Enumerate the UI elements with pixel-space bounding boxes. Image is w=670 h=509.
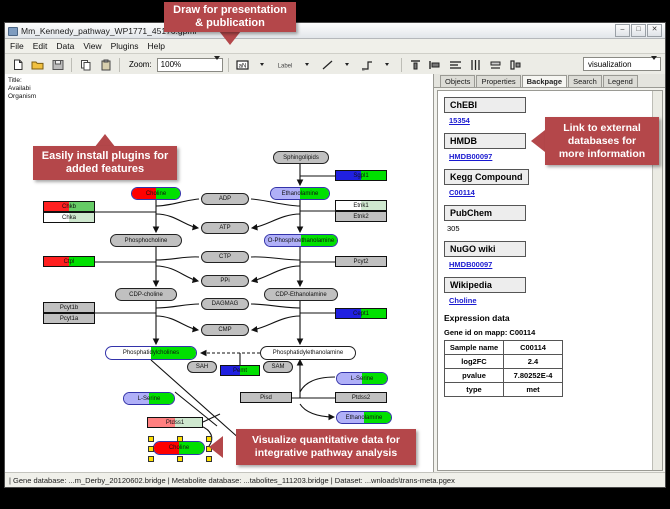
title-bar: Mm_Kennedy_pathway_WP1771_45176.gpml – □… — [5, 23, 665, 39]
node-label: Pemt — [233, 368, 247, 374]
db-header-kegg: Kegg Compound — [444, 169, 529, 185]
db-link-wikipedia[interactable]: Choline — [449, 296, 662, 305]
line-icon[interactable] — [319, 56, 336, 73]
tab-legend[interactable]: Legend — [603, 75, 638, 87]
line-dropdown-icon[interactable] — [339, 56, 356, 73]
node-label: Chkb — [62, 204, 76, 210]
visualization-value: visualization — [588, 60, 632, 69]
pathway-node-sah[interactable]: SAH — [187, 361, 217, 373]
align-top-icon[interactable] — [407, 56, 424, 73]
node-label: Ctpl — [64, 259, 75, 265]
node-label: Ptdss1 — [166, 420, 184, 426]
pathway-node-sgpl1[interactable]: Sgpl1 — [335, 170, 387, 181]
db-link-nugo[interactable]: HMDB00097 — [449, 260, 662, 269]
status-bar-text: | Gene database: ...m_Derby_20120602.bri… — [9, 476, 455, 485]
node-label: Ptdss2 — [352, 395, 370, 401]
distribute-vertical-icon[interactable] — [447, 56, 464, 73]
link-callout-text: Link to externaldatabases formore inform… — [559, 122, 645, 161]
link-callout: Link to externaldatabases formore inform… — [545, 117, 659, 165]
node-label: PPi — [220, 278, 229, 284]
pathway-node-phosphocholine[interactable]: Phosphocholine — [110, 234, 182, 247]
resize-handle[interactable] — [177, 456, 183, 462]
connector-icon[interactable] — [359, 56, 376, 73]
menu-view[interactable]: View — [82, 41, 102, 51]
pathway-node-sam[interactable]: SAM — [263, 361, 293, 373]
db-value-pubchem: 305 — [447, 224, 662, 233]
node-label: L-Serine — [138, 396, 161, 402]
menu-edit[interactable]: Edit — [32, 41, 49, 51]
exp-val-sample-name: C00114 — [504, 341, 563, 355]
visualize-callout-arrow-icon — [209, 436, 223, 458]
pathway-node-cept1[interactable]: Cept1 — [335, 308, 387, 319]
node-label: Pcyt1a — [60, 316, 78, 322]
pathway-node-chkb[interactable]: Chkb — [43, 201, 95, 212]
node-label: CDP-Ethanolamine — [275, 292, 326, 298]
paste-icon[interactable] — [97, 56, 114, 73]
node-label: Cept1 — [353, 311, 369, 317]
table-row: Sample name C00114 — [445, 341, 563, 355]
pathway-node-ppi[interactable]: PPi — [201, 275, 249, 287]
visualize-callout: Visualize quantitative data forintegrati… — [236, 429, 416, 465]
svg-text:aN: aN — [238, 63, 246, 69]
resize-handle[interactable] — [148, 446, 154, 452]
distribute-horizontal-icon[interactable] — [467, 56, 484, 73]
zoom-label: Zoom: — [129, 60, 152, 69]
exp-key-sample-name: Sample name — [445, 341, 504, 355]
node-label: L-Serine — [351, 376, 374, 382]
new-file-icon[interactable] — [9, 56, 26, 73]
app-icon — [8, 26, 17, 35]
pathway-node-pcyt2[interactable]: Pcyt2 — [335, 256, 387, 267]
table-row: log2FC 2.4 — [445, 355, 563, 369]
exp-key-pvalue: pvalue — [445, 369, 504, 383]
open-folder-icon[interactable] — [29, 56, 46, 73]
pathway-node-choline-top[interactable]: Choline — [131, 187, 181, 200]
node-label: CTP — [219, 254, 231, 260]
exp-key-type: type — [445, 383, 504, 397]
pathway-node-l-serine-left[interactable]: L-Serine — [123, 392, 175, 405]
pathway-node-ptdss2[interactable]: Ptdss2 — [335, 392, 387, 403]
datanode-icon[interactable]: aN — [234, 56, 251, 73]
pathway-node-ctp[interactable]: CTP — [201, 251, 249, 263]
application-window: Mm_Kennedy_pathway_WP1771_45176.gpml – □… — [4, 22, 666, 488]
resize-handle[interactable] — [148, 436, 154, 442]
pathway-node-phosphatidylethanolamine[interactable]: Phosphatidylethanolamine — [260, 346, 356, 360]
link-callout-arrow-icon — [531, 130, 545, 152]
visualize-callout-text: Visualize quantitative data forintegrati… — [252, 434, 400, 460]
node-label: CMP — [218, 327, 231, 333]
expression-gene-id: Gene id on mapp: C00114 — [444, 328, 662, 337]
node-label: Pisd — [260, 395, 272, 401]
pathway-canvas[interactable]: Title: Availabi Organism — [5, 74, 434, 473]
stack-icon[interactable] — [487, 56, 504, 73]
visualization-combobox[interactable]: visualization — [583, 57, 661, 71]
save-icon[interactable] — [49, 56, 66, 73]
node-label: ATP — [219, 225, 230, 231]
pathway-node-pcyt1b[interactable]: Pcyt1b — [43, 302, 95, 313]
pathway-node-l-serine-right[interactable]: L-Serine — [336, 372, 388, 385]
pathway-node-dagmag[interactable]: DAGMAG — [201, 298, 249, 310]
node-label: Etnk1 — [353, 203, 368, 209]
menu-file[interactable]: File — [9, 41, 25, 51]
group-icon[interactable] — [507, 56, 524, 73]
pathway-node-atp[interactable]: ATP — [201, 222, 249, 234]
resize-handle[interactable] — [177, 436, 183, 442]
node-label: Choline — [146, 191, 166, 197]
node-label: Sgpl1 — [353, 173, 368, 179]
exp-key-log2fc: log2FC — [445, 355, 504, 369]
node-label: Phosphatidylcholines — [123, 350, 179, 356]
pathway-node-chka[interactable]: Chka — [43, 212, 95, 223]
node-label: Phosphatidylethanolamine — [273, 350, 343, 356]
pathway-node-pisd[interactable]: Pisd — [240, 392, 292, 403]
exp-val-type: met — [504, 383, 563, 397]
toolbar-separator-4 — [401, 58, 402, 72]
toolbar-separator-2 — [119, 58, 120, 72]
draw-callout-text: Draw for presentation& publication — [173, 4, 287, 30]
node-label: SAH — [196, 364, 208, 370]
pathway-node-ptdss1[interactable]: Ptdss1 — [147, 417, 203, 428]
chevron-down-icon[interactable] — [214, 60, 220, 69]
pathway-node-cmp[interactable]: CMP — [201, 324, 249, 336]
db-header-hmdb: HMDB — [444, 133, 526, 149]
menu-help[interactable]: Help — [147, 41, 166, 51]
copy-icon[interactable] — [77, 56, 94, 73]
side-panel-tabs: Objects Properties Backpage Search Legen… — [434, 74, 665, 88]
label-icon[interactable]: Label — [274, 56, 296, 73]
status-bar: | Gene database: ...m_Derby_20120602.bri… — [5, 472, 665, 487]
window-buttons: – □ ✕ — [615, 24, 662, 37]
pathway-node-cdp-choline[interactable]: CDP-choline — [115, 288, 177, 301]
toolbar-separator — [71, 58, 72, 72]
table-row: type met — [445, 383, 563, 397]
pathway-node-pcyt1a[interactable]: Pcyt1a — [43, 313, 95, 324]
zoom-combobox[interactable]: 100% — [157, 58, 223, 72]
plugins-callout: Easily install plugins foradded features — [33, 146, 177, 180]
tab-search[interactable]: Search — [568, 75, 602, 87]
svg-text:Label: Label — [277, 63, 292, 69]
node-label: CDP-choline — [129, 292, 163, 298]
pathway-node-pemt[interactable]: Pemt — [220, 365, 260, 376]
pathway-node-ethanolamine-top[interactable]: Ethanolamine — [270, 187, 330, 200]
node-label: Ethanolamine — [282, 191, 319, 197]
chevron-down-icon-2[interactable] — [651, 60, 657, 69]
draw-callout-arrow-icon — [219, 31, 241, 45]
pathway-node-o-phosphoethanolamine[interactable]: O-Phosphoethanolamine — [264, 234, 338, 247]
maximize-button[interactable]: □ — [631, 24, 646, 37]
datanode-dropdown-icon[interactable] — [254, 56, 271, 73]
node-label: Etnk2 — [353, 214, 368, 220]
draw-callout: Draw for presentation& publication — [164, 2, 296, 32]
menu-data[interactable]: Data — [55, 41, 75, 51]
pathway-node-ctpl[interactable]: Ctpl — [43, 256, 95, 267]
node-label: Pcyt2 — [353, 259, 368, 265]
pathway-node-adp[interactable]: ADP — [201, 193, 249, 205]
node-label: Pcyt1b — [60, 305, 78, 311]
label-dropdown-icon[interactable] — [299, 56, 316, 73]
menu-plugins[interactable]: Plugins — [110, 41, 140, 51]
close-button[interactable]: ✕ — [647, 24, 662, 37]
zoom-value: 100% — [161, 60, 181, 69]
plugins-callout-text: Easily install plugins foradded features — [42, 150, 169, 176]
connector-dropdown-icon[interactable] — [379, 56, 396, 73]
db-header-nugo: NuGO wiki — [444, 241, 526, 257]
exp-val-pvalue: 7.80252E-4 — [504, 369, 563, 383]
toolbar: Zoom: 100% aN Label — [5, 54, 665, 76]
expression-table: Sample name C00114 log2FC 2.4 pvalue 7.8… — [444, 340, 563, 397]
align-left-icon[interactable] — [427, 56, 444, 73]
node-label: ADP — [219, 196, 231, 202]
pathway-node-phosphatidylcholines[interactable]: Phosphatidylcholines — [105, 346, 197, 360]
selection-handles[interactable] — [150, 438, 208, 458]
db-header-wikipedia: Wikipedia — [444, 277, 526, 293]
pathway-node-ethanolamine-right[interactable]: Ethanolamine — [336, 411, 392, 424]
pathway-node-etnk1[interactable]: Etnk1 — [335, 200, 387, 211]
node-label: Phosphocholine — [125, 238, 168, 244]
pathway-node-sphingolipids[interactable]: Sphingolipids — [273, 151, 329, 164]
tab-properties[interactable]: Properties — [476, 75, 520, 87]
node-label: Ethanolamine — [346, 415, 383, 421]
menu-bar: File Edit Data View Plugins Help — [5, 39, 665, 54]
tab-backpage[interactable]: Backpage — [522, 75, 567, 87]
tab-objects[interactable]: Objects — [440, 75, 475, 87]
minimize-button[interactable]: – — [615, 24, 630, 37]
resize-handle[interactable] — [148, 456, 154, 462]
node-label: Sphingolipids — [283, 155, 319, 161]
node-label: SAM — [271, 364, 284, 370]
toolbar-separator-3 — [228, 58, 229, 72]
node-label: O-Phosphoethanolamine — [268, 238, 334, 244]
exp-val-log2fc: 2.4 — [504, 355, 563, 369]
pathway-node-etnk2[interactable]: Etnk2 — [335, 211, 387, 222]
table-row: pvalue 7.80252E-4 — [445, 369, 563, 383]
node-label: DAGMAG — [212, 301, 239, 307]
node-label: Chka — [62, 215, 76, 221]
db-header-chebi: ChEBI — [444, 97, 526, 113]
db-link-kegg[interactable]: C00114 — [449, 188, 662, 197]
db-header-pubchem: PubChem — [444, 205, 526, 221]
expression-data-title: Expression data — [444, 313, 662, 323]
pathway-node-cdp-ethanolamine[interactable]: CDP-Ethanolamine — [264, 288, 338, 301]
